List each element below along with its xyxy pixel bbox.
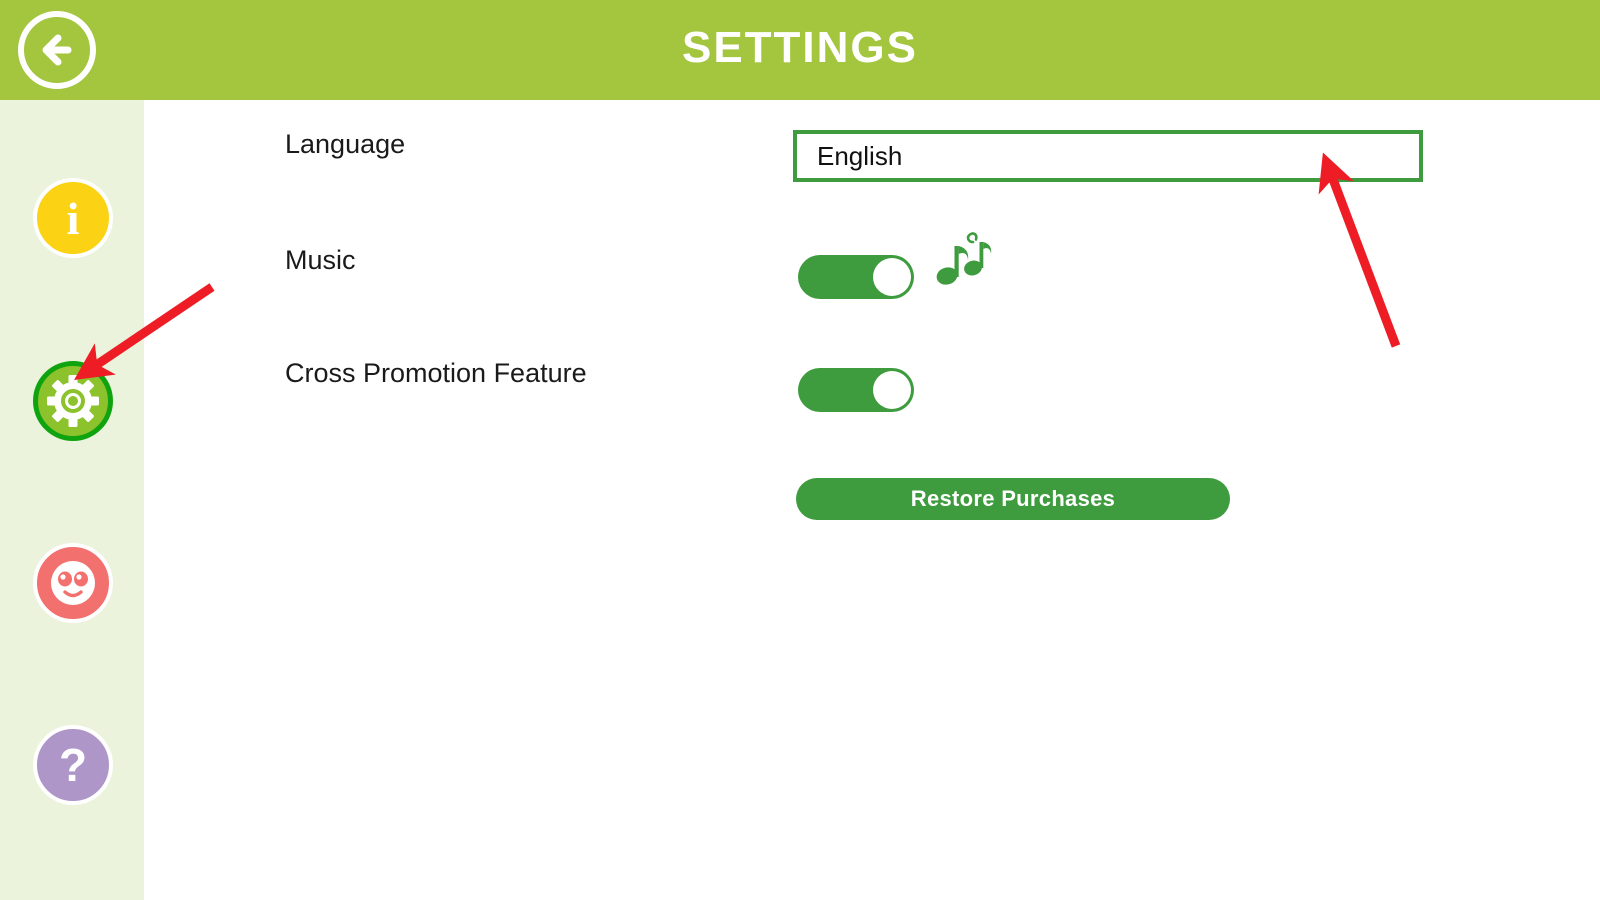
- language-value: English: [817, 141, 902, 172]
- info-icon-glyph: i: [33, 178, 113, 258]
- music-toggle[interactable]: [798, 255, 914, 299]
- cross-promotion-toggle[interactable]: [798, 368, 914, 412]
- sidebar: i: [0, 100, 144, 900]
- cross-promotion-toggle-knob: [873, 371, 911, 409]
- language-label: Language: [285, 129, 405, 160]
- sidebar-item-character[interactable]: [33, 543, 113, 623]
- cross-promotion-label: Cross Promotion Feature: [285, 358, 587, 389]
- sidebar-item-settings[interactable]: [33, 361, 113, 441]
- main-content: Language English Music Cross Promotion F…: [144, 100, 1600, 900]
- page-title: SETTINGS: [0, 0, 1600, 100]
- question-mark-icon-glyph: ?: [33, 725, 113, 805]
- sidebar-item-info[interactable]: i: [33, 178, 113, 258]
- music-toggle-knob: [873, 258, 911, 296]
- sidebar-item-help[interactable]: ?: [33, 725, 113, 805]
- restore-purchases-button[interactable]: Restore Purchases: [796, 478, 1230, 520]
- music-label: Music: [285, 245, 356, 276]
- app-header: SETTINGS: [0, 0, 1600, 100]
- music-note-icon: [933, 228, 995, 290]
- language-select[interactable]: English: [793, 130, 1423, 182]
